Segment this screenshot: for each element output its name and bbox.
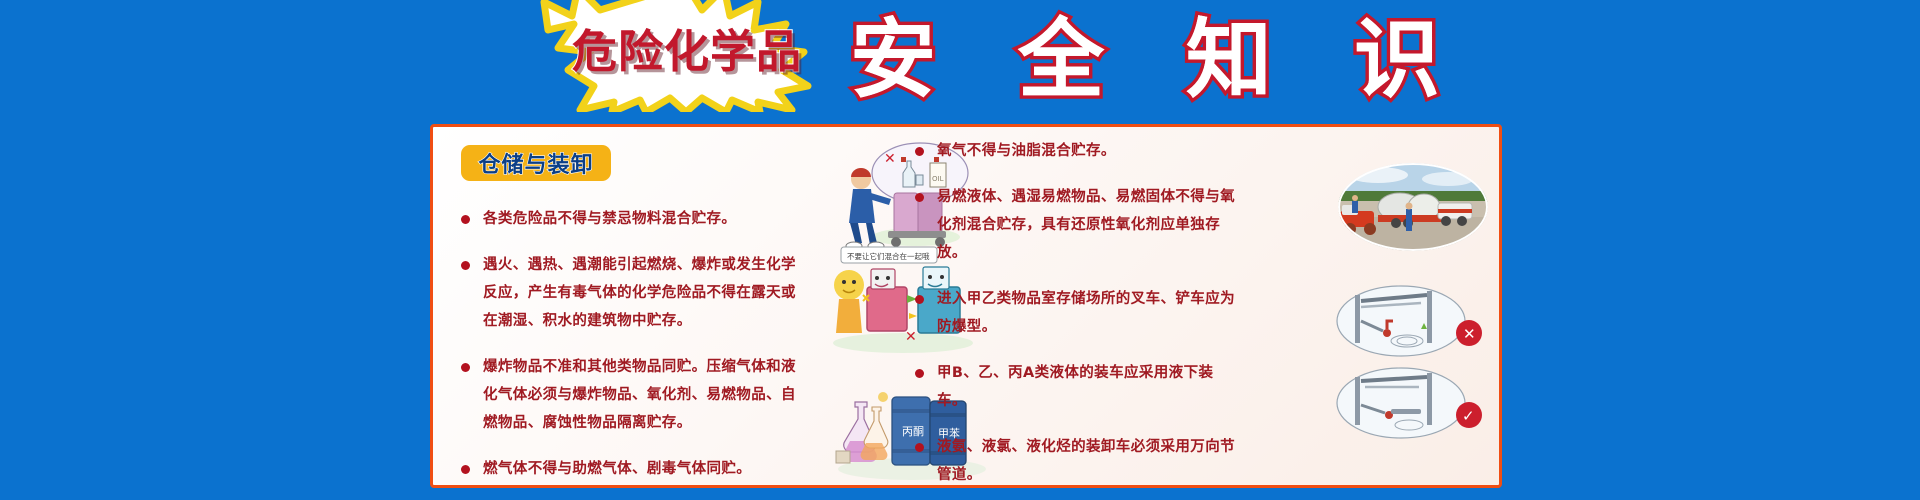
list-item: 甲B、乙、丙A类液体的装车应采用液下装车。 — [913, 359, 1243, 415]
list-item: 遇火、遇热、遇潮能引起燃烧、爆炸或发生化学反应，产生有毒气体的化学危险品不得在露… — [459, 251, 809, 335]
tanker-truck-loading-photo — [1338, 163, 1488, 251]
page-header: 危险化学品 安 全 知 识 安 全 知 识 — [0, 0, 1920, 120]
section-badge-label: 仓储与装卸 — [478, 147, 593, 179]
badge-title: 危险化学品 — [552, 22, 822, 82]
svg-text:✕: ✕ — [1463, 325, 1476, 343]
page-title: 安 全 知 识 — [850, 8, 1466, 112]
list-item: 氧气不得与油脂混合贮存。 — [913, 137, 1243, 165]
content-panel: 仓储与装卸 各类危险品不得与禁忌物料混合贮存。 遇火、遇热、遇潮能引起燃烧、爆炸… — [430, 124, 1502, 488]
right-bullet-list: 氧气不得与油脂混合贮存。 易燃液体、遇湿易燃物品、易燃固体不得与氧化剂混合贮存，… — [913, 137, 1243, 488]
list-item: 各类危险品不得与禁忌物料混合贮存。 — [459, 205, 809, 233]
list-item: 爆炸物品不准和其他类物品同贮。压缩气体和液化气体必须与爆炸物品、氧化剂、易燃物品… — [459, 353, 809, 437]
section-badge: 仓储与装卸 — [461, 145, 611, 181]
loading-arm-incorrect-diagram: ✕ — [1335, 283, 1495, 359]
svg-text:✓: ✓ — [1462, 407, 1475, 425]
list-item: 易燃液体、遇湿易燃物品、易燃固体不得与氧化剂混合贮存，具有还原性氧化剂应单独存放… — [913, 183, 1243, 267]
left-bullet-list: 各类危险品不得与禁忌物料混合贮存。 遇火、遇热、遇潮能引起燃烧、爆炸或发生化学反… — [459, 205, 809, 488]
list-item: 进入甲乙类物品室存储场所的叉车、铲车应为防爆型。 — [913, 285, 1243, 341]
list-item: 燃气体不得与助燃气体、剧毒气体同贮。 — [459, 455, 809, 483]
loading-arm-correct-diagram: ✓ — [1335, 365, 1495, 441]
list-item: 液氨、液氯、液化烃的装卸车必须采用万向节管道。 — [913, 433, 1243, 488]
svg-text:✕: ✕ — [884, 151, 896, 167]
